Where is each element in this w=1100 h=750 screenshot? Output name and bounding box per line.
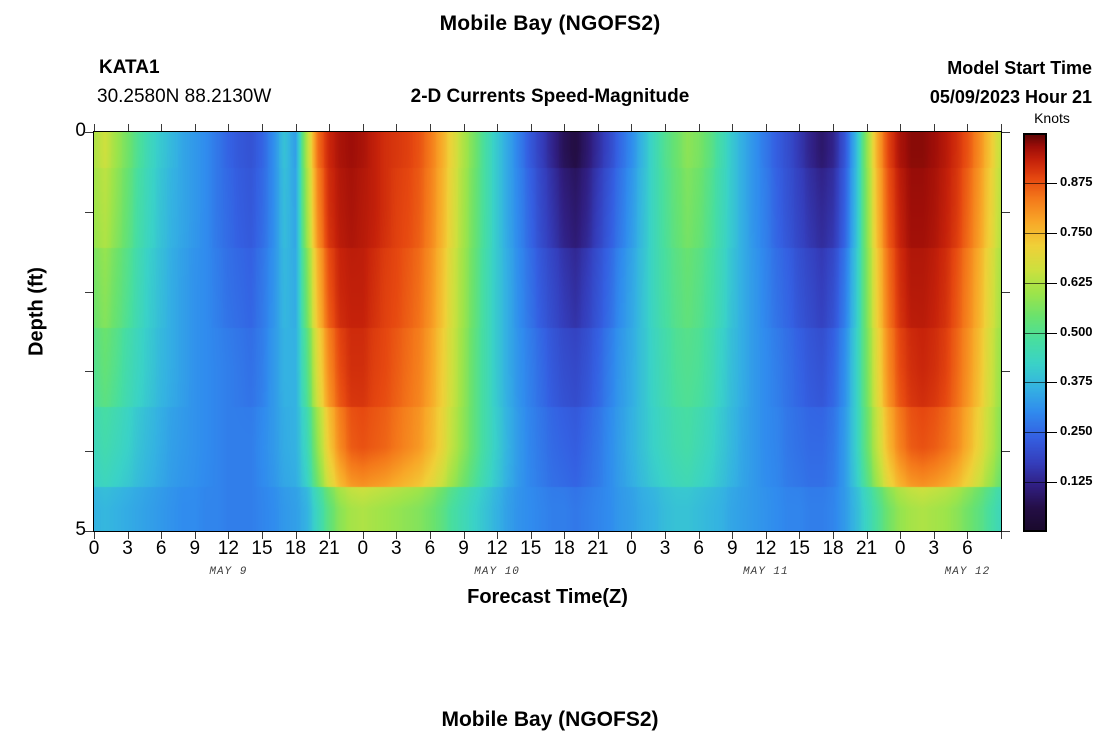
y-tick-mark (1002, 132, 1010, 133)
x-axis-date-label: MAY 12 (922, 566, 1012, 578)
x-tick-mark (967, 124, 968, 131)
colorbar-tick-mark (1047, 183, 1057, 184)
colorbar-tick-mark (1047, 382, 1057, 383)
x-tick-mark (1001, 124, 1002, 131)
colorbar-tick-mark (1047, 233, 1057, 234)
y-tick-mark (85, 531, 93, 532)
x-tick-mark (699, 124, 700, 131)
x-tick-mark (598, 124, 599, 131)
colorbar-tick-inner (1025, 333, 1045, 334)
model-start-time-label: Model Start Time (0, 58, 1092, 79)
x-tick-mark (766, 124, 767, 131)
x-axis-date-label: MAY 10 (452, 566, 542, 578)
colorbar-tick-label: 0.750 (1060, 224, 1093, 239)
x-tick-mark (161, 124, 162, 131)
colorbar-tick-inner (1025, 183, 1045, 184)
x-tick-mark (464, 124, 465, 131)
colorbar-title: Knots (1012, 110, 1092, 126)
y-tick-mark (1002, 531, 1010, 532)
colorbar-tick-label: 0.250 (1060, 423, 1093, 438)
y-tick-label: 5 (46, 519, 86, 541)
x-tick-mark (799, 124, 800, 131)
colorbar-tick-label: 0.875 (1060, 174, 1093, 189)
y-tick-mark (1002, 451, 1010, 452)
y-tick-mark (85, 451, 93, 452)
x-tick-mark (732, 124, 733, 131)
x-tick-mark (262, 124, 263, 131)
x-tick-mark (531, 124, 532, 131)
colorbar-tick-label: 0.375 (1060, 373, 1093, 388)
colorbar-tick-inner (1025, 283, 1045, 284)
y-tick-mark (85, 212, 93, 213)
colorbar-tick-mark (1047, 432, 1057, 433)
y-tick-mark (85, 371, 93, 372)
colorbar-tick-mark (1047, 482, 1057, 483)
heatmap-plot-area (93, 131, 1002, 532)
y-tick-mark (85, 132, 93, 133)
x-tick-mark (867, 124, 868, 131)
y-tick-label: 0 (46, 120, 86, 142)
x-tick-mark (363, 124, 364, 131)
x-tick-mark (128, 124, 129, 131)
colorbar-tick-inner (1025, 233, 1045, 234)
x-tick-mark (631, 124, 632, 131)
footer-title: Mobile Bay (NGOFS2) (0, 708, 1100, 732)
model-start-time-value: 05/09/2023 Hour 21 (0, 87, 1092, 108)
x-axis-date-label: MAY 11 (721, 566, 811, 578)
x-tick-mark (900, 124, 901, 131)
x-tick-mark (497, 124, 498, 131)
x-tick-mark (296, 124, 297, 131)
colorbar-tick-inner (1025, 382, 1045, 383)
x-tick-mark (329, 124, 330, 131)
y-axis-title: Depth (ft) (26, 142, 49, 482)
page-title: Mobile Bay (NGOFS2) (0, 12, 1100, 36)
x-tick-mark (396, 124, 397, 131)
y-tick-mark (85, 292, 93, 293)
colorbar-tick-label: 0.125 (1060, 473, 1093, 488)
x-tick-mark (94, 124, 95, 131)
colorbar-tick-inner (1025, 482, 1045, 483)
x-tick-mark (228, 124, 229, 131)
x-tick-mark (564, 124, 565, 131)
colorbar-tick-label: 0.500 (1060, 324, 1093, 339)
colorbar-tick-mark (1047, 333, 1057, 334)
heatmap-canvas (94, 132, 1001, 531)
colorbar-tick-inner (1025, 432, 1045, 433)
x-tick-mark (934, 124, 935, 131)
x-tick-mark (665, 124, 666, 131)
x-tick-mark (430, 124, 431, 131)
y-tick-mark (1002, 371, 1010, 372)
x-axis-title: Forecast Time(Z) (93, 586, 1002, 609)
x-tick-mark (833, 124, 834, 131)
colorbar-tick-mark (1047, 283, 1057, 284)
x-tick-mark (195, 124, 196, 131)
y-tick-mark (1002, 292, 1010, 293)
x-tick-label: 6 (947, 538, 987, 560)
y-tick-mark (1002, 212, 1010, 213)
x-axis-date-label: MAY 9 (183, 566, 273, 578)
colorbar-tick-label: 0.625 (1060, 274, 1093, 289)
x-tick-mark (1001, 532, 1002, 539)
